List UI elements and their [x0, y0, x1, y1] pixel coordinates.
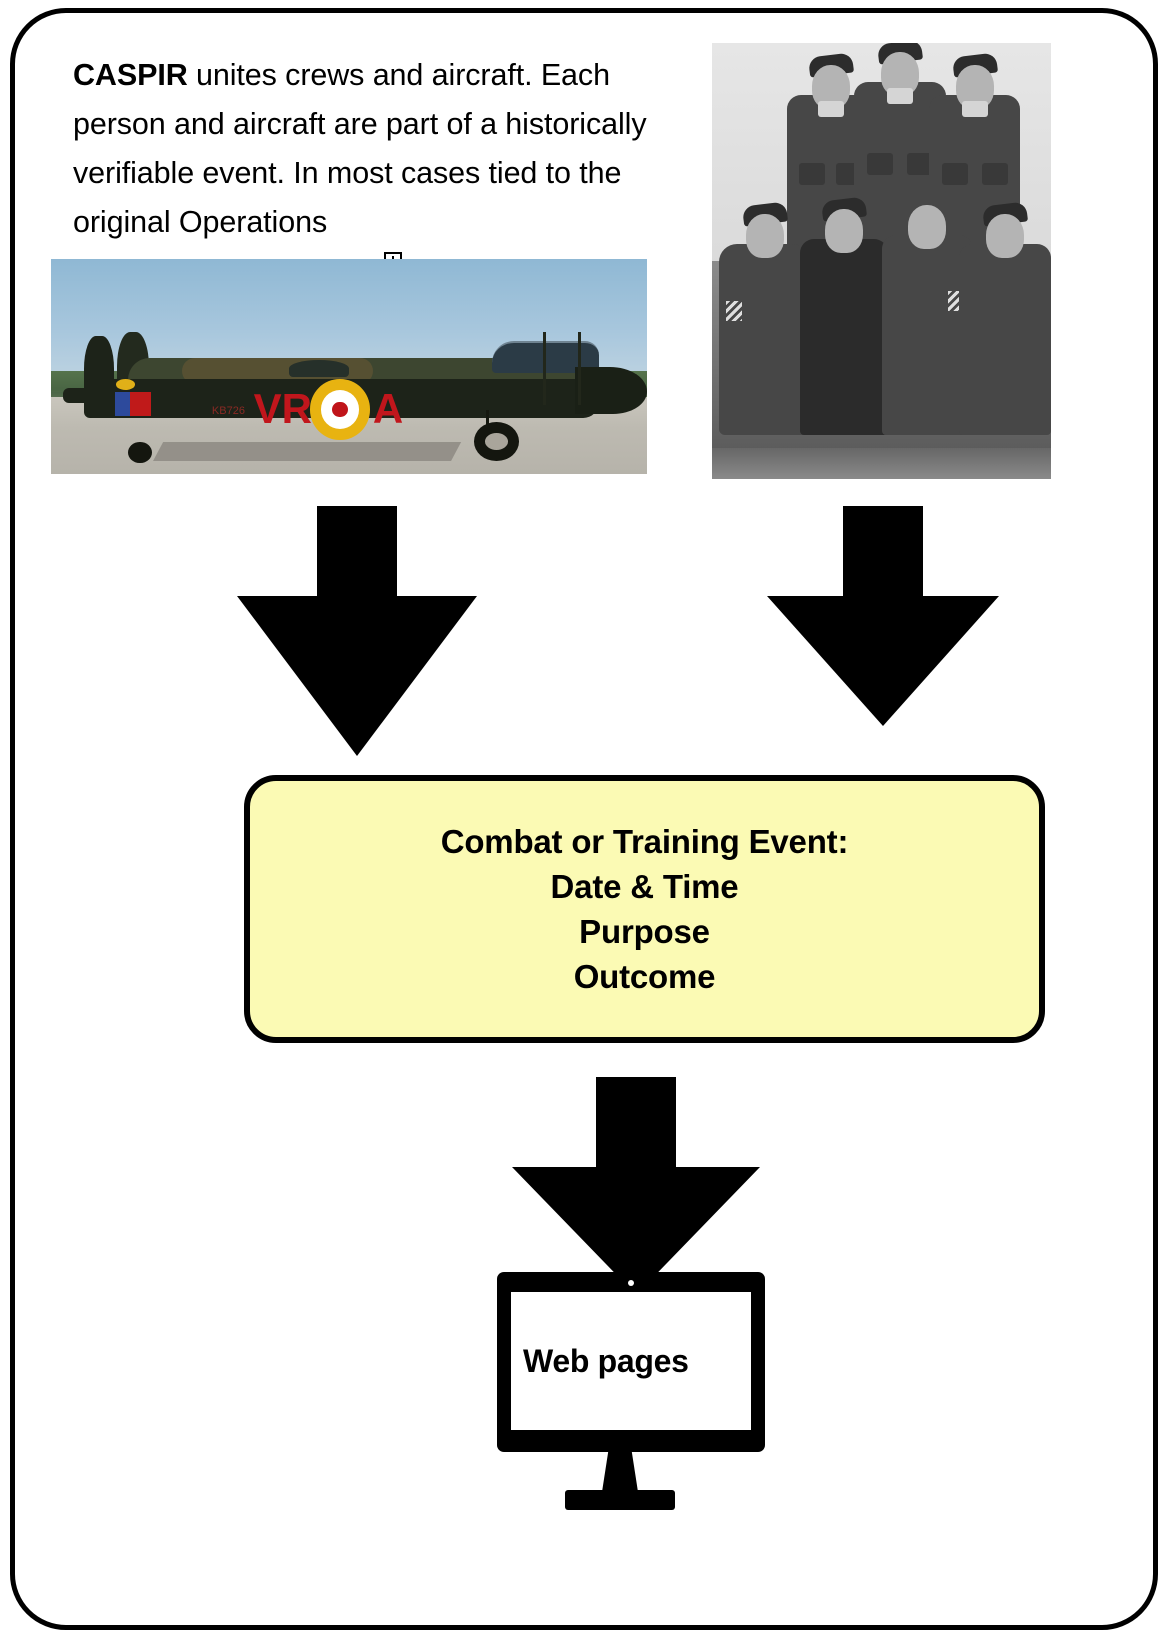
arrow-shaft	[843, 506, 923, 598]
tunic-pocket	[867, 153, 893, 175]
rank-chevrons	[726, 301, 742, 321]
airman-head	[908, 205, 946, 249]
diagram-frame: CASPIR unites crews and aircraft. Each p…	[10, 8, 1158, 1630]
monitor-screen: Web pages	[511, 1292, 751, 1430]
arrow-shaft	[596, 1077, 676, 1169]
aircraft-nose	[575, 367, 647, 414]
monitor-stand-base	[565, 1490, 675, 1510]
aircraft-main-wheel	[474, 422, 519, 461]
airman-figure	[959, 244, 1051, 436]
monitor-camera-icon	[628, 1280, 634, 1286]
aircraft-propeller-outer	[578, 332, 581, 405]
aircraft-roundel-icon	[310, 379, 370, 439]
aircraft-individual-letter: A	[373, 388, 403, 430]
aircraft-flag-blue	[115, 392, 129, 416]
aircraft-flag-red	[130, 392, 151, 416]
aircraft-squadron-code: VR	[254, 388, 312, 430]
airman-head	[746, 214, 784, 258]
arrow-aircraft-to-event-icon	[237, 506, 477, 756]
arrow-head	[237, 596, 477, 756]
aircraft-dorsal-turret	[289, 360, 349, 377]
monitor-screen-label: Web pages	[523, 1343, 689, 1380]
monitor-stand-neck	[602, 1450, 638, 1492]
event-box: Combat or Training Event: Date & Time Pu…	[244, 775, 1045, 1043]
aircraft-serial-number: KB726	[212, 405, 245, 417]
arrow-shaft	[317, 506, 397, 598]
airman-head	[825, 209, 863, 253]
arrow-head	[767, 596, 999, 726]
intro-lead-word: CASPIR	[73, 58, 188, 92]
crew-photo	[712, 43, 1051, 479]
airman-collar	[887, 88, 913, 104]
airman-collar	[962, 101, 988, 117]
tunic-pocket	[982, 163, 1008, 185]
monitor-frame: Web pages	[497, 1272, 765, 1452]
event-line: Date & Time	[551, 864, 739, 909]
event-line: Outcome	[574, 954, 716, 999]
aircraft-photo: KB726 VR A	[51, 259, 647, 474]
arrow-event-to-webpages-icon	[512, 1077, 760, 1297]
roundel-red-center	[332, 402, 347, 418]
airman-figure	[800, 239, 888, 435]
airman-head	[986, 214, 1024, 258]
airman-collar	[818, 101, 844, 117]
tunic-pocket	[799, 163, 825, 185]
airman-figure	[719, 244, 811, 436]
crew-photo-foreground	[712, 448, 1051, 479]
web-pages-monitor: Web pages	[470, 1272, 770, 1547]
arrow-crew-to-event-icon	[767, 506, 999, 726]
roundel-white-ring	[321, 390, 360, 429]
intro-paragraph: CASPIR unites crews and aircraft. Each p…	[73, 51, 705, 247]
tunic-pocket	[942, 163, 968, 185]
aircraft-shadow	[153, 442, 461, 461]
aircraft-propeller-inner	[543, 332, 546, 405]
event-line: Purpose	[579, 909, 710, 954]
event-line: Combat or Training Event:	[441, 819, 849, 864]
